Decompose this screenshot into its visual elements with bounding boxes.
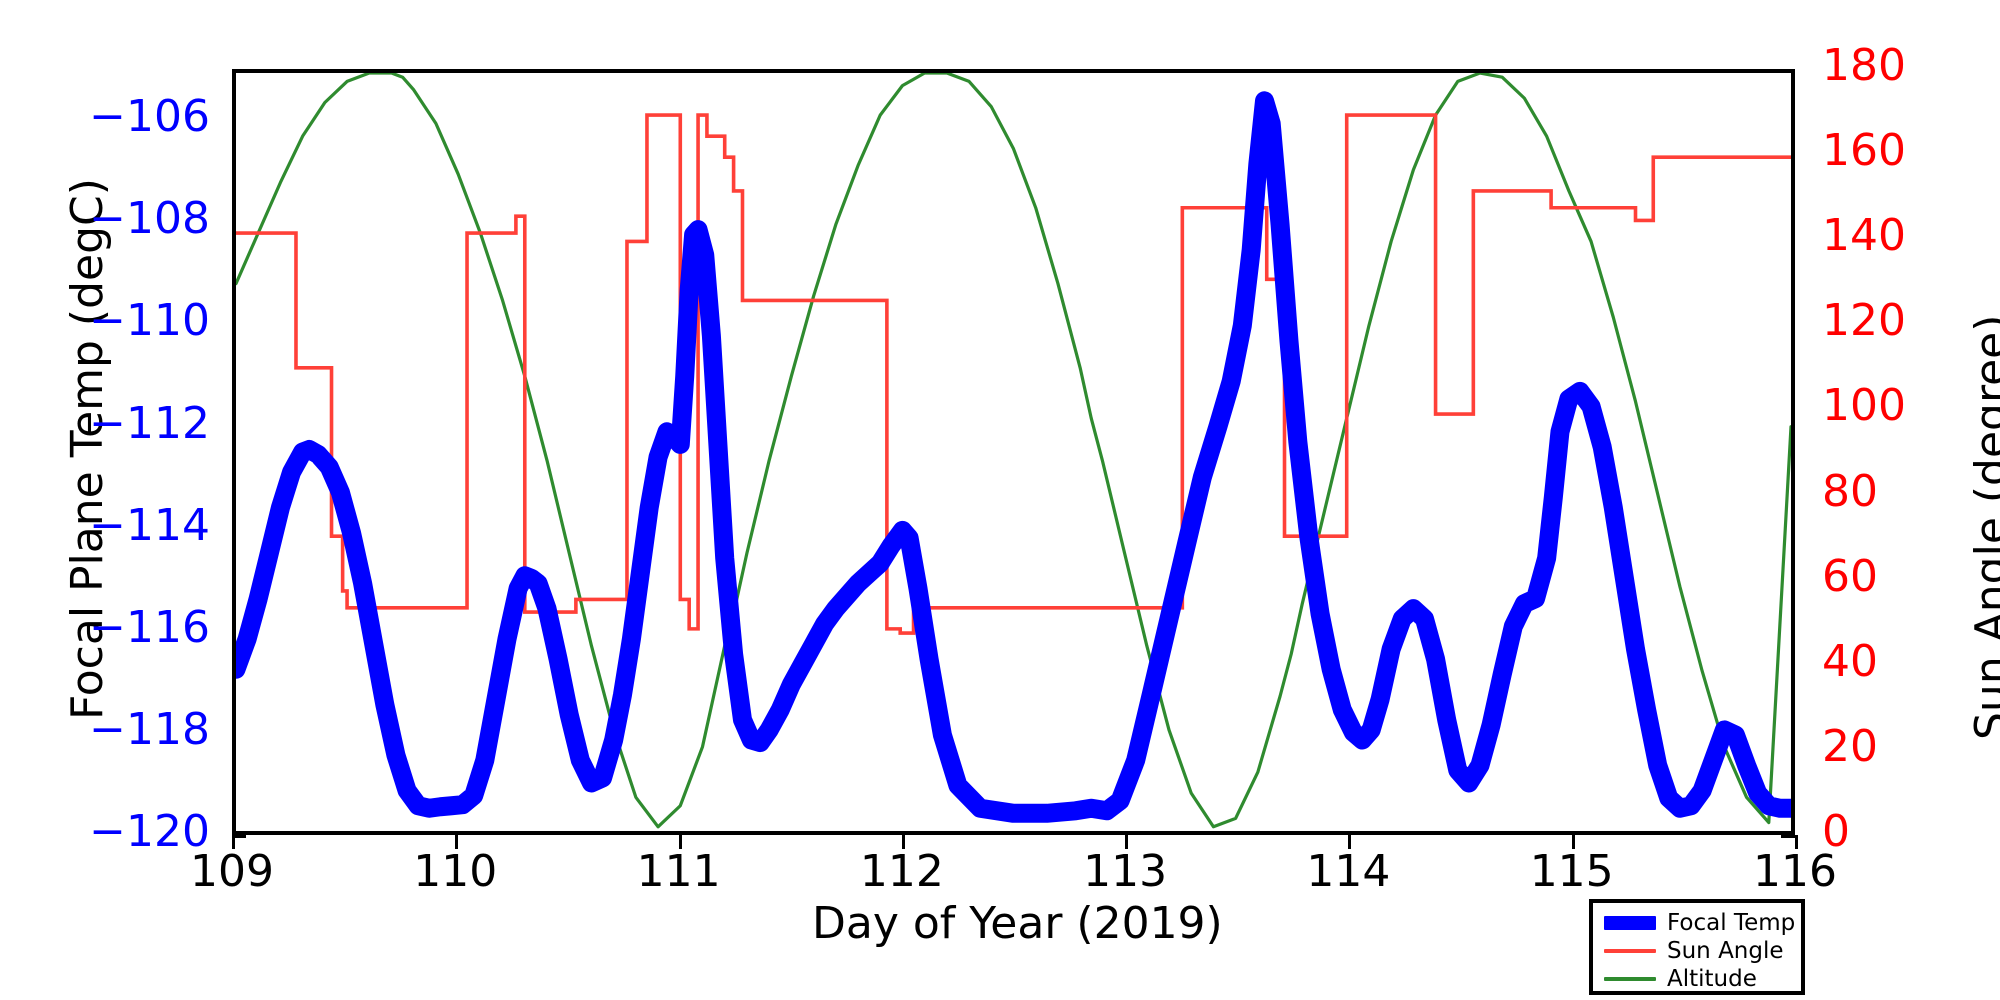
plot-canvas [236,73,1791,831]
chart-figure: Focal Plane Temp (degC) Sun Angle (degre… [0,0,2000,1000]
legend-item-focal-temp: Focal Temp [1603,909,1791,937]
y-tick-label-right: 20 [1822,721,1878,772]
x-tick-label: 110 [395,846,515,897]
x-tick-label: 109 [172,846,292,897]
sun-angle-swatch-icon [1603,949,1657,953]
y-tick-label-left: −108 [89,193,210,244]
y-tick-label-right: 120 [1822,295,1906,346]
sun-angle-line [236,115,1791,633]
y-tick-label-right: 40 [1822,636,1878,687]
y-tick-label-right: 160 [1822,125,1906,176]
y-axis-right-title: Sun Angle (degree) [1966,315,2000,740]
y-tick-label-right: 180 [1822,40,1906,91]
y-tick-label-left: −116 [89,602,210,653]
y-tick-label-right: 100 [1822,380,1906,431]
y-tick-right [1781,835,1795,838]
y-tick-label-right: 60 [1822,551,1878,602]
y-tick-label-right: 80 [1822,466,1878,517]
altitude-swatch-icon [1603,977,1657,981]
x-axis-title: Day of Year (2019) [812,898,1223,949]
y-tick-label-right: 140 [1822,210,1906,261]
y-tick-label-left: −118 [89,704,210,755]
x-tick-label: 114 [1288,846,1408,897]
plot-area [232,69,1795,835]
x-tick-label: 116 [1735,846,1855,897]
legend-item-sun-angle: Sun Angle [1603,937,1791,965]
x-tick-label: 113 [1065,846,1185,897]
legend-item-altitude: Altitude [1603,965,1791,993]
y-tick-label-left: −112 [89,398,210,449]
focal-temp-swatch-icon [1603,916,1657,930]
x-tick-label: 115 [1512,846,1632,897]
legend: Focal Temp Sun Angle Altitude [1589,899,1805,995]
x-tick-label: 111 [619,846,739,897]
x-tick-label: 112 [842,846,962,897]
legend-label-sun-angle: Sun Angle [1667,938,1784,964]
y-tick-label-left: −110 [89,295,210,346]
legend-label-focal-temp: Focal Temp [1667,910,1795,936]
y-tick-label-left: −106 [89,91,210,142]
y-tick-label-left: −114 [89,500,210,551]
legend-label-altitude: Altitude [1667,966,1757,992]
